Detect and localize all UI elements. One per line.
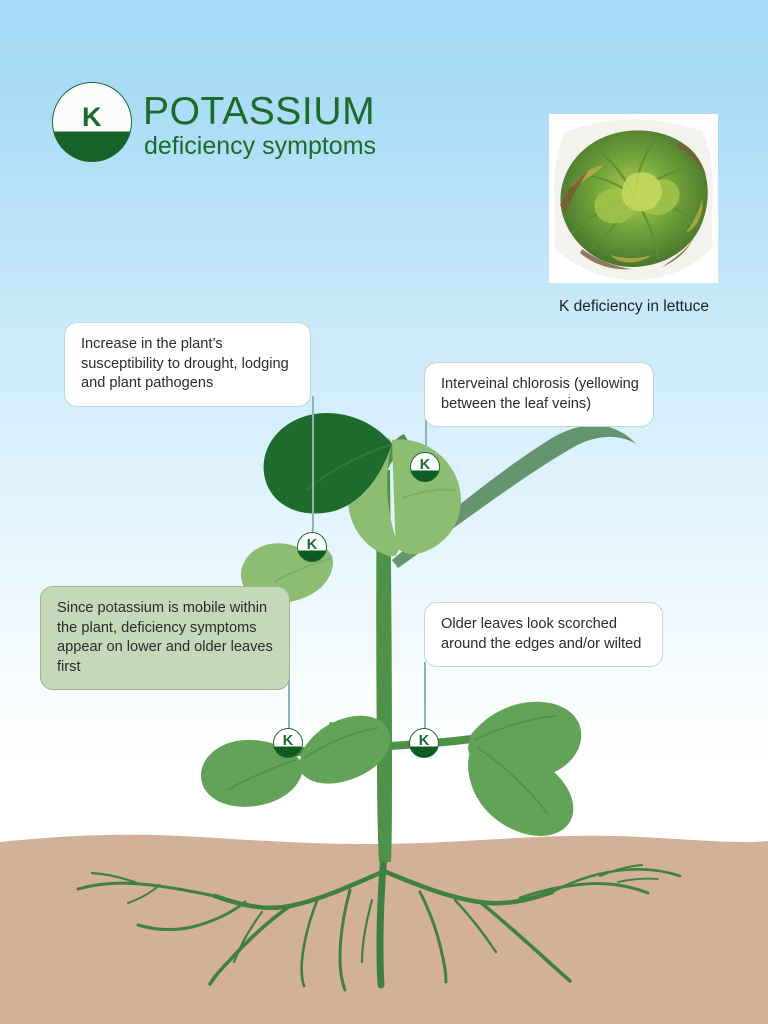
lettuce-photo xyxy=(549,114,718,283)
connector-line-drought xyxy=(312,396,314,534)
infographic-poster: K POTASSIUM deficiency symptoms xyxy=(0,0,768,1024)
k-marker-scorched: K xyxy=(409,728,439,758)
soil-background xyxy=(0,820,768,1024)
page-title: POTASSIUM xyxy=(143,92,375,131)
k-marker-label: K xyxy=(298,537,326,553)
k-marker-chlorosis: K xyxy=(410,452,440,482)
callout-potassium-mobility: Since potassium is mobile within the pla… xyxy=(40,586,290,690)
k-marker-label: K xyxy=(410,733,438,749)
k-marker-mobile: K xyxy=(273,728,303,758)
connector-line-scorched xyxy=(424,662,426,730)
callout-scorched-older-leaves: Older leaves look scorched around the ed… xyxy=(424,602,663,667)
potassium-logo: K xyxy=(52,82,132,162)
logo-letter: K xyxy=(52,102,132,133)
photo-caption: K deficiency in lettuce xyxy=(509,298,759,316)
k-marker-label: K xyxy=(274,733,302,749)
k-marker-label: K xyxy=(411,457,439,473)
connector-line-chlorosis xyxy=(425,420,427,453)
page-subtitle: deficiency symptoms xyxy=(144,134,376,159)
k-marker-drought: K xyxy=(297,532,327,562)
callout-interveinal-chlorosis: Interveinal chlorosis (yellowing between… xyxy=(424,362,654,427)
callout-drought-susceptibility: Increase in the plant’s susceptibility t… xyxy=(64,322,311,407)
